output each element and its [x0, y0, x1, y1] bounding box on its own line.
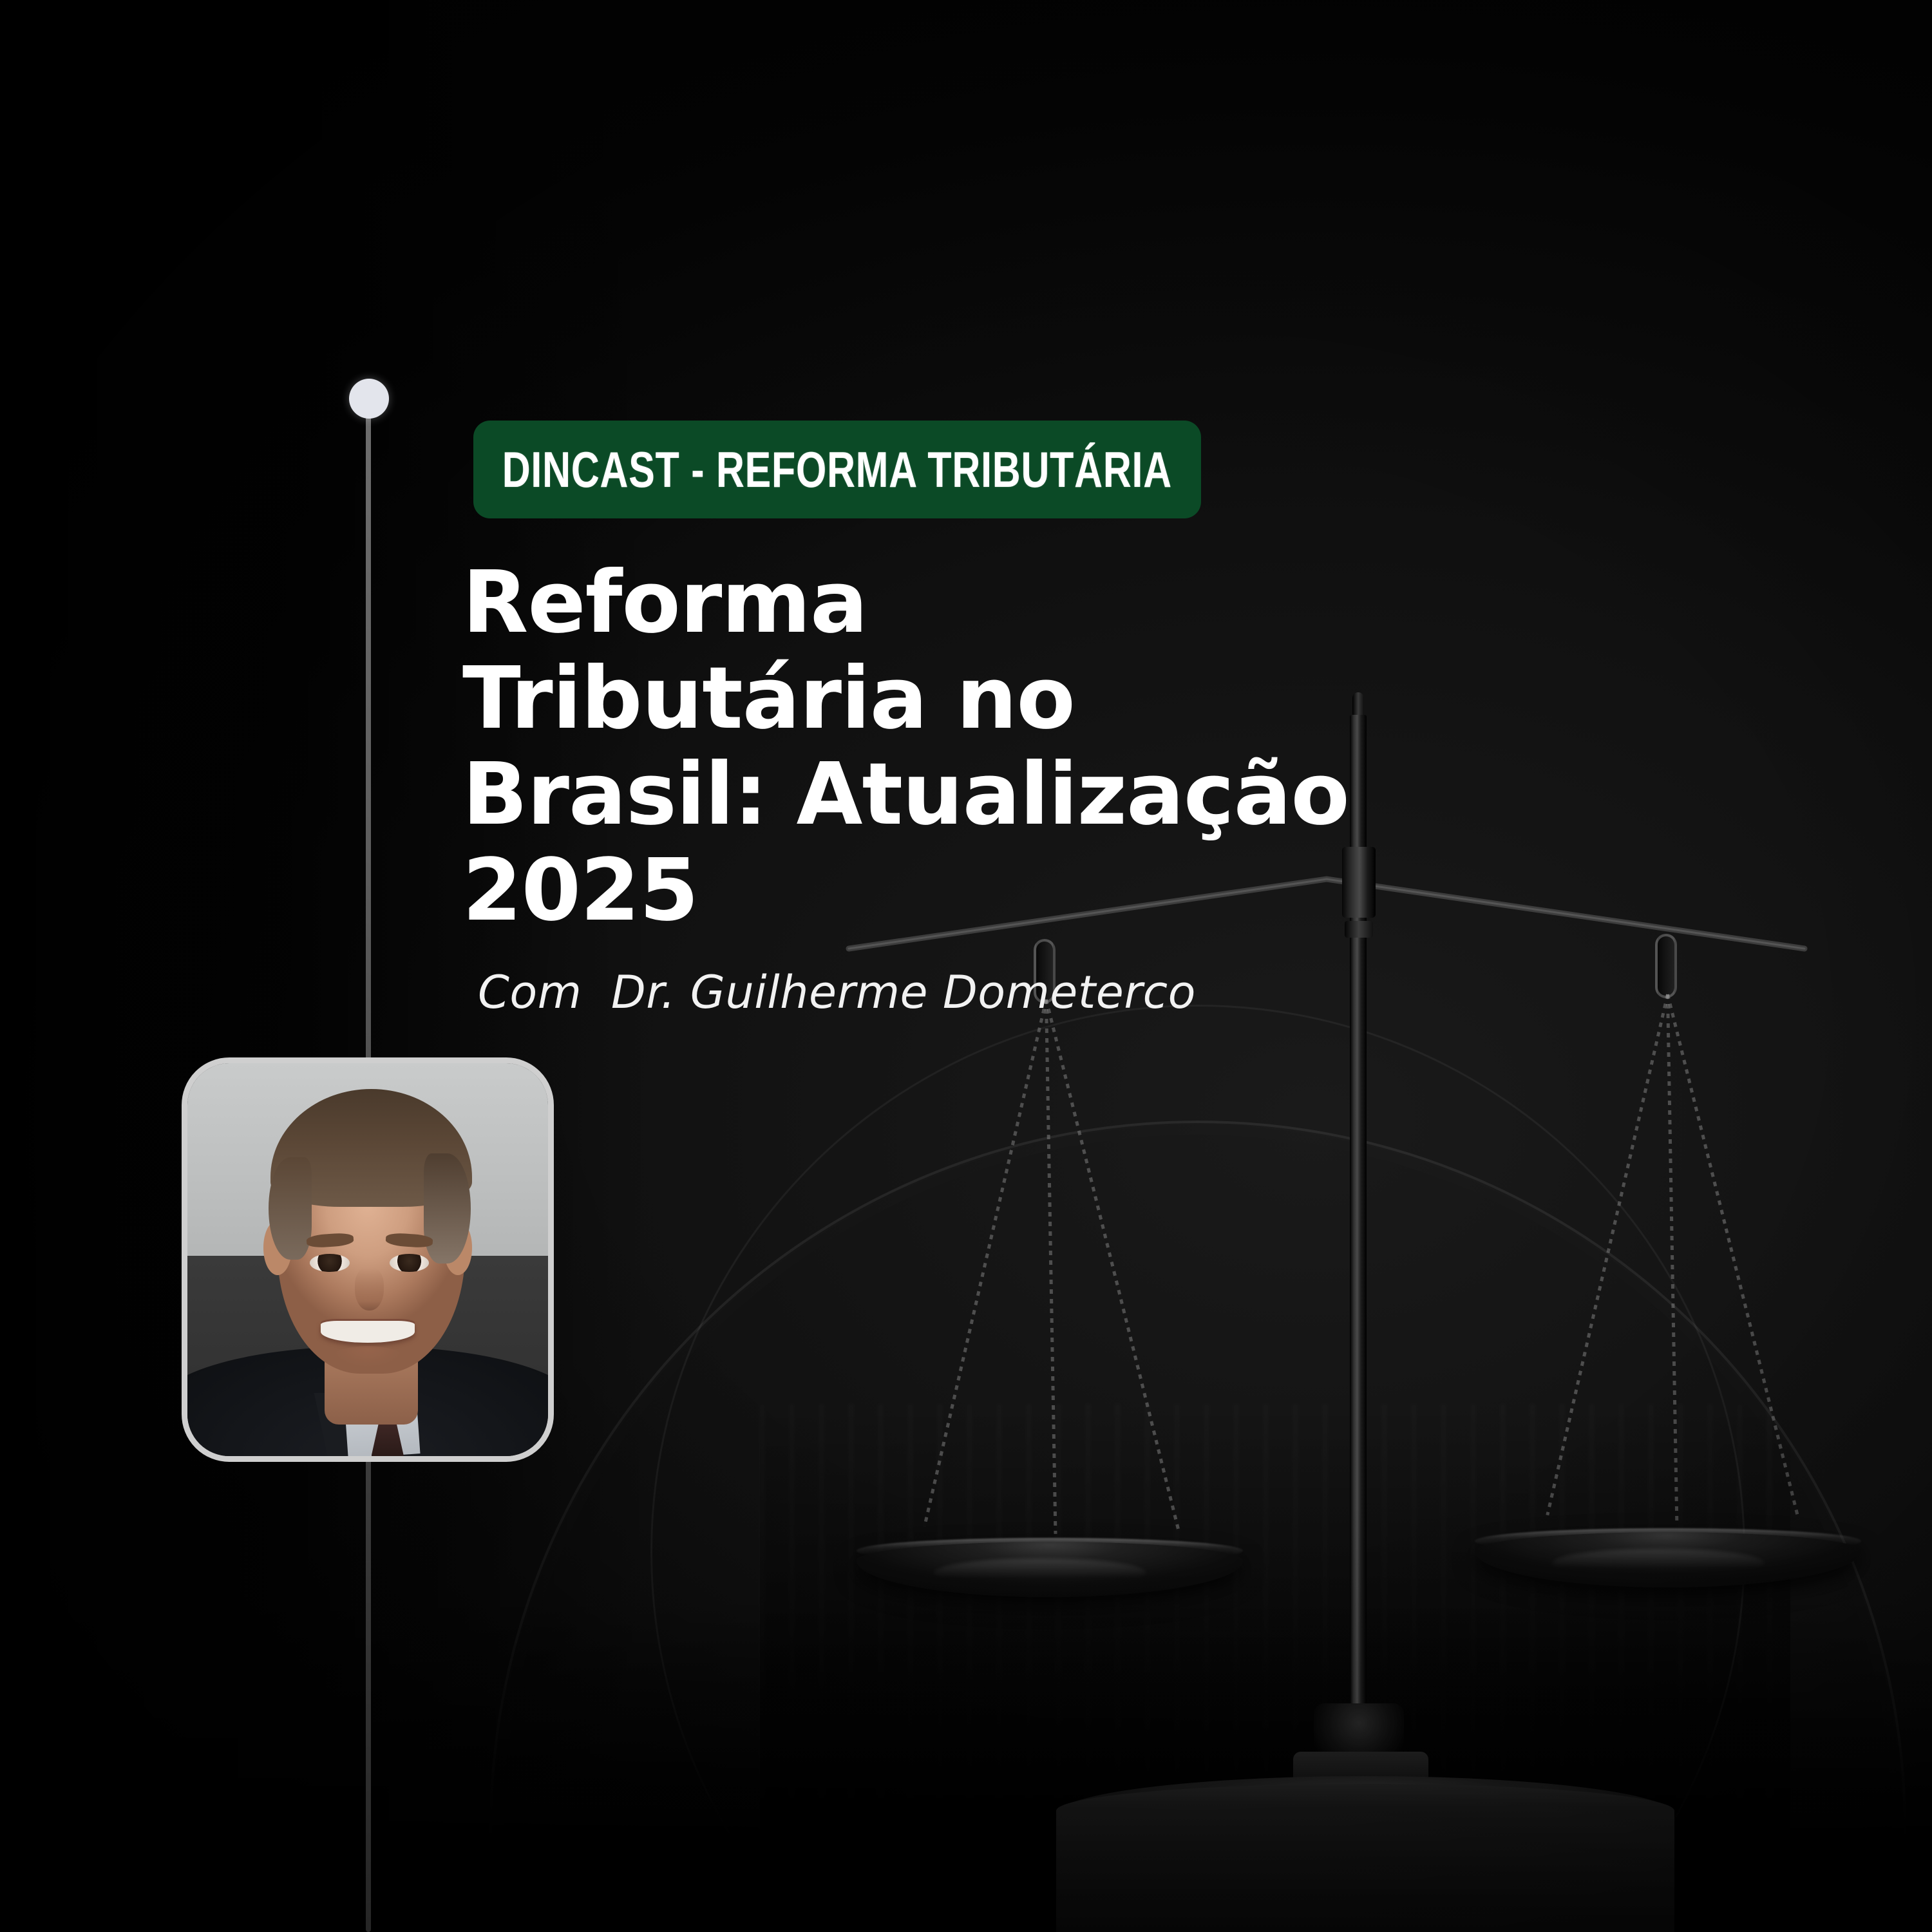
- page-title: Reforma Tributária no Brasil: Atualizaçã…: [462, 555, 1377, 939]
- category-badge-label: DINCAST - REFORMA TRIBUTÁRIA: [502, 440, 1172, 499]
- scale-pan-left: [857, 1520, 1243, 1597]
- photo-eye-left: [310, 1254, 350, 1272]
- photo-chin: [328, 1346, 407, 1378]
- photo-smile: [321, 1321, 415, 1343]
- scale-hook-right: [1655, 934, 1677, 998]
- podcast-cover-poster: DINCAST - REFORMA TRIBUTÁRIA Reforma Tri…: [0, 0, 1932, 1932]
- timeline-dot-icon: [349, 379, 389, 419]
- pedestal: [1056, 1784, 1674, 1932]
- photo-nose: [355, 1267, 384, 1311]
- speaker-avatar: [182, 1057, 554, 1462]
- photo-hair-side-right: [424, 1153, 471, 1264]
- speaker-photo: [187, 1063, 548, 1456]
- speaker-subtitle: Com Dr. Guilherme Dometerco: [478, 966, 1196, 1019]
- scale-pan-right: [1475, 1510, 1861, 1587]
- photo-eye-right: [390, 1254, 430, 1272]
- photo-hair-side-left: [269, 1157, 312, 1260]
- category-badge[interactable]: DINCAST - REFORMA TRIBUTÁRIA: [473, 421, 1201, 518]
